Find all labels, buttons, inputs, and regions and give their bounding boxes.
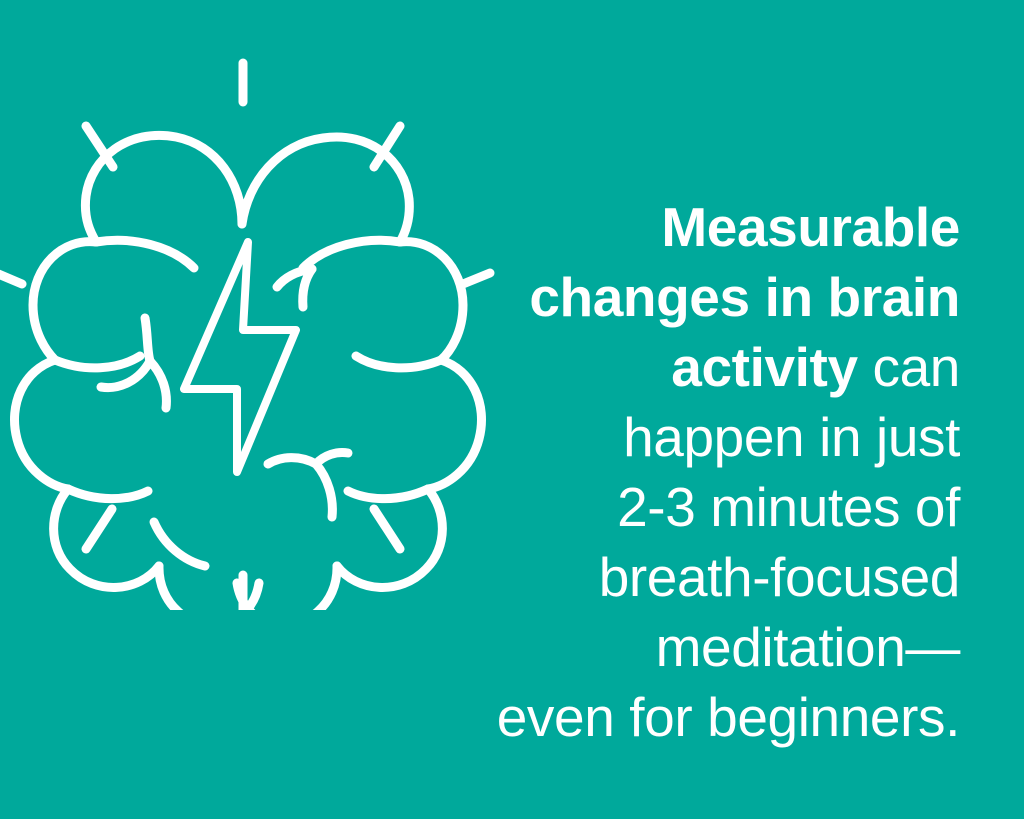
quote-line-7: meditation— (430, 612, 960, 682)
quote-line-2: changes in brain (430, 262, 960, 332)
fold-left-mid (55, 356, 140, 368)
quote-line-1: Measurable (430, 192, 960, 262)
brain-outline-left-top (85, 135, 242, 242)
quote-line-6: breath-focused (430, 542, 960, 612)
quote-line-5: 2-3 minutes of (430, 472, 960, 542)
lightning-bolt-icon (184, 242, 296, 472)
fold-left-branch-b (150, 361, 166, 408)
fold-right-hook-stem (316, 452, 348, 464)
fold-left-branch-stem (145, 318, 150, 361)
quote-line-4: happen in just (430, 402, 960, 472)
brain-outline-left-lower (54, 489, 159, 587)
fold-left-hook (154, 522, 205, 566)
brain-outline-left-mid (15, 360, 68, 489)
quote-segment: changes in brain (529, 266, 960, 328)
ray-bottom-left (86, 509, 112, 549)
fold-left-lower (68, 489, 148, 499)
fold-right-mid (356, 356, 441, 368)
quote-segment: Measurable (661, 196, 960, 258)
radiating-rays-group (0, 63, 490, 610)
ray-left (0, 273, 22, 284)
fold-left-upper (96, 240, 194, 268)
fold-right-hook-tail (316, 464, 332, 517)
quote-segment: activity (671, 336, 857, 398)
quote-text-block: Measurable changes in brain activity can… (430, 192, 960, 752)
brain-outline-right-top (242, 137, 409, 242)
fold-right-upper (303, 240, 400, 268)
quote-segment: happen in just (623, 406, 960, 468)
fold-right-hook-arc (268, 458, 316, 464)
quote-line-8: even for beginners. (430, 682, 960, 752)
quote-line-3: activity can (430, 332, 960, 402)
quote-segment: meditation— (656, 616, 960, 678)
quote-segment: can (858, 336, 960, 398)
brain-outline-left-upper (33, 242, 96, 360)
fold-right-lower (348, 489, 428, 499)
quote-segment: even for beginners. (497, 686, 960, 748)
ray-bottom-right (374, 509, 400, 549)
quote-card: Measurable changes in brain activity can… (0, 0, 1024, 819)
quote-segment: 2-3 minutes of (617, 476, 960, 538)
quote-segment: breath-focused (599, 546, 960, 608)
